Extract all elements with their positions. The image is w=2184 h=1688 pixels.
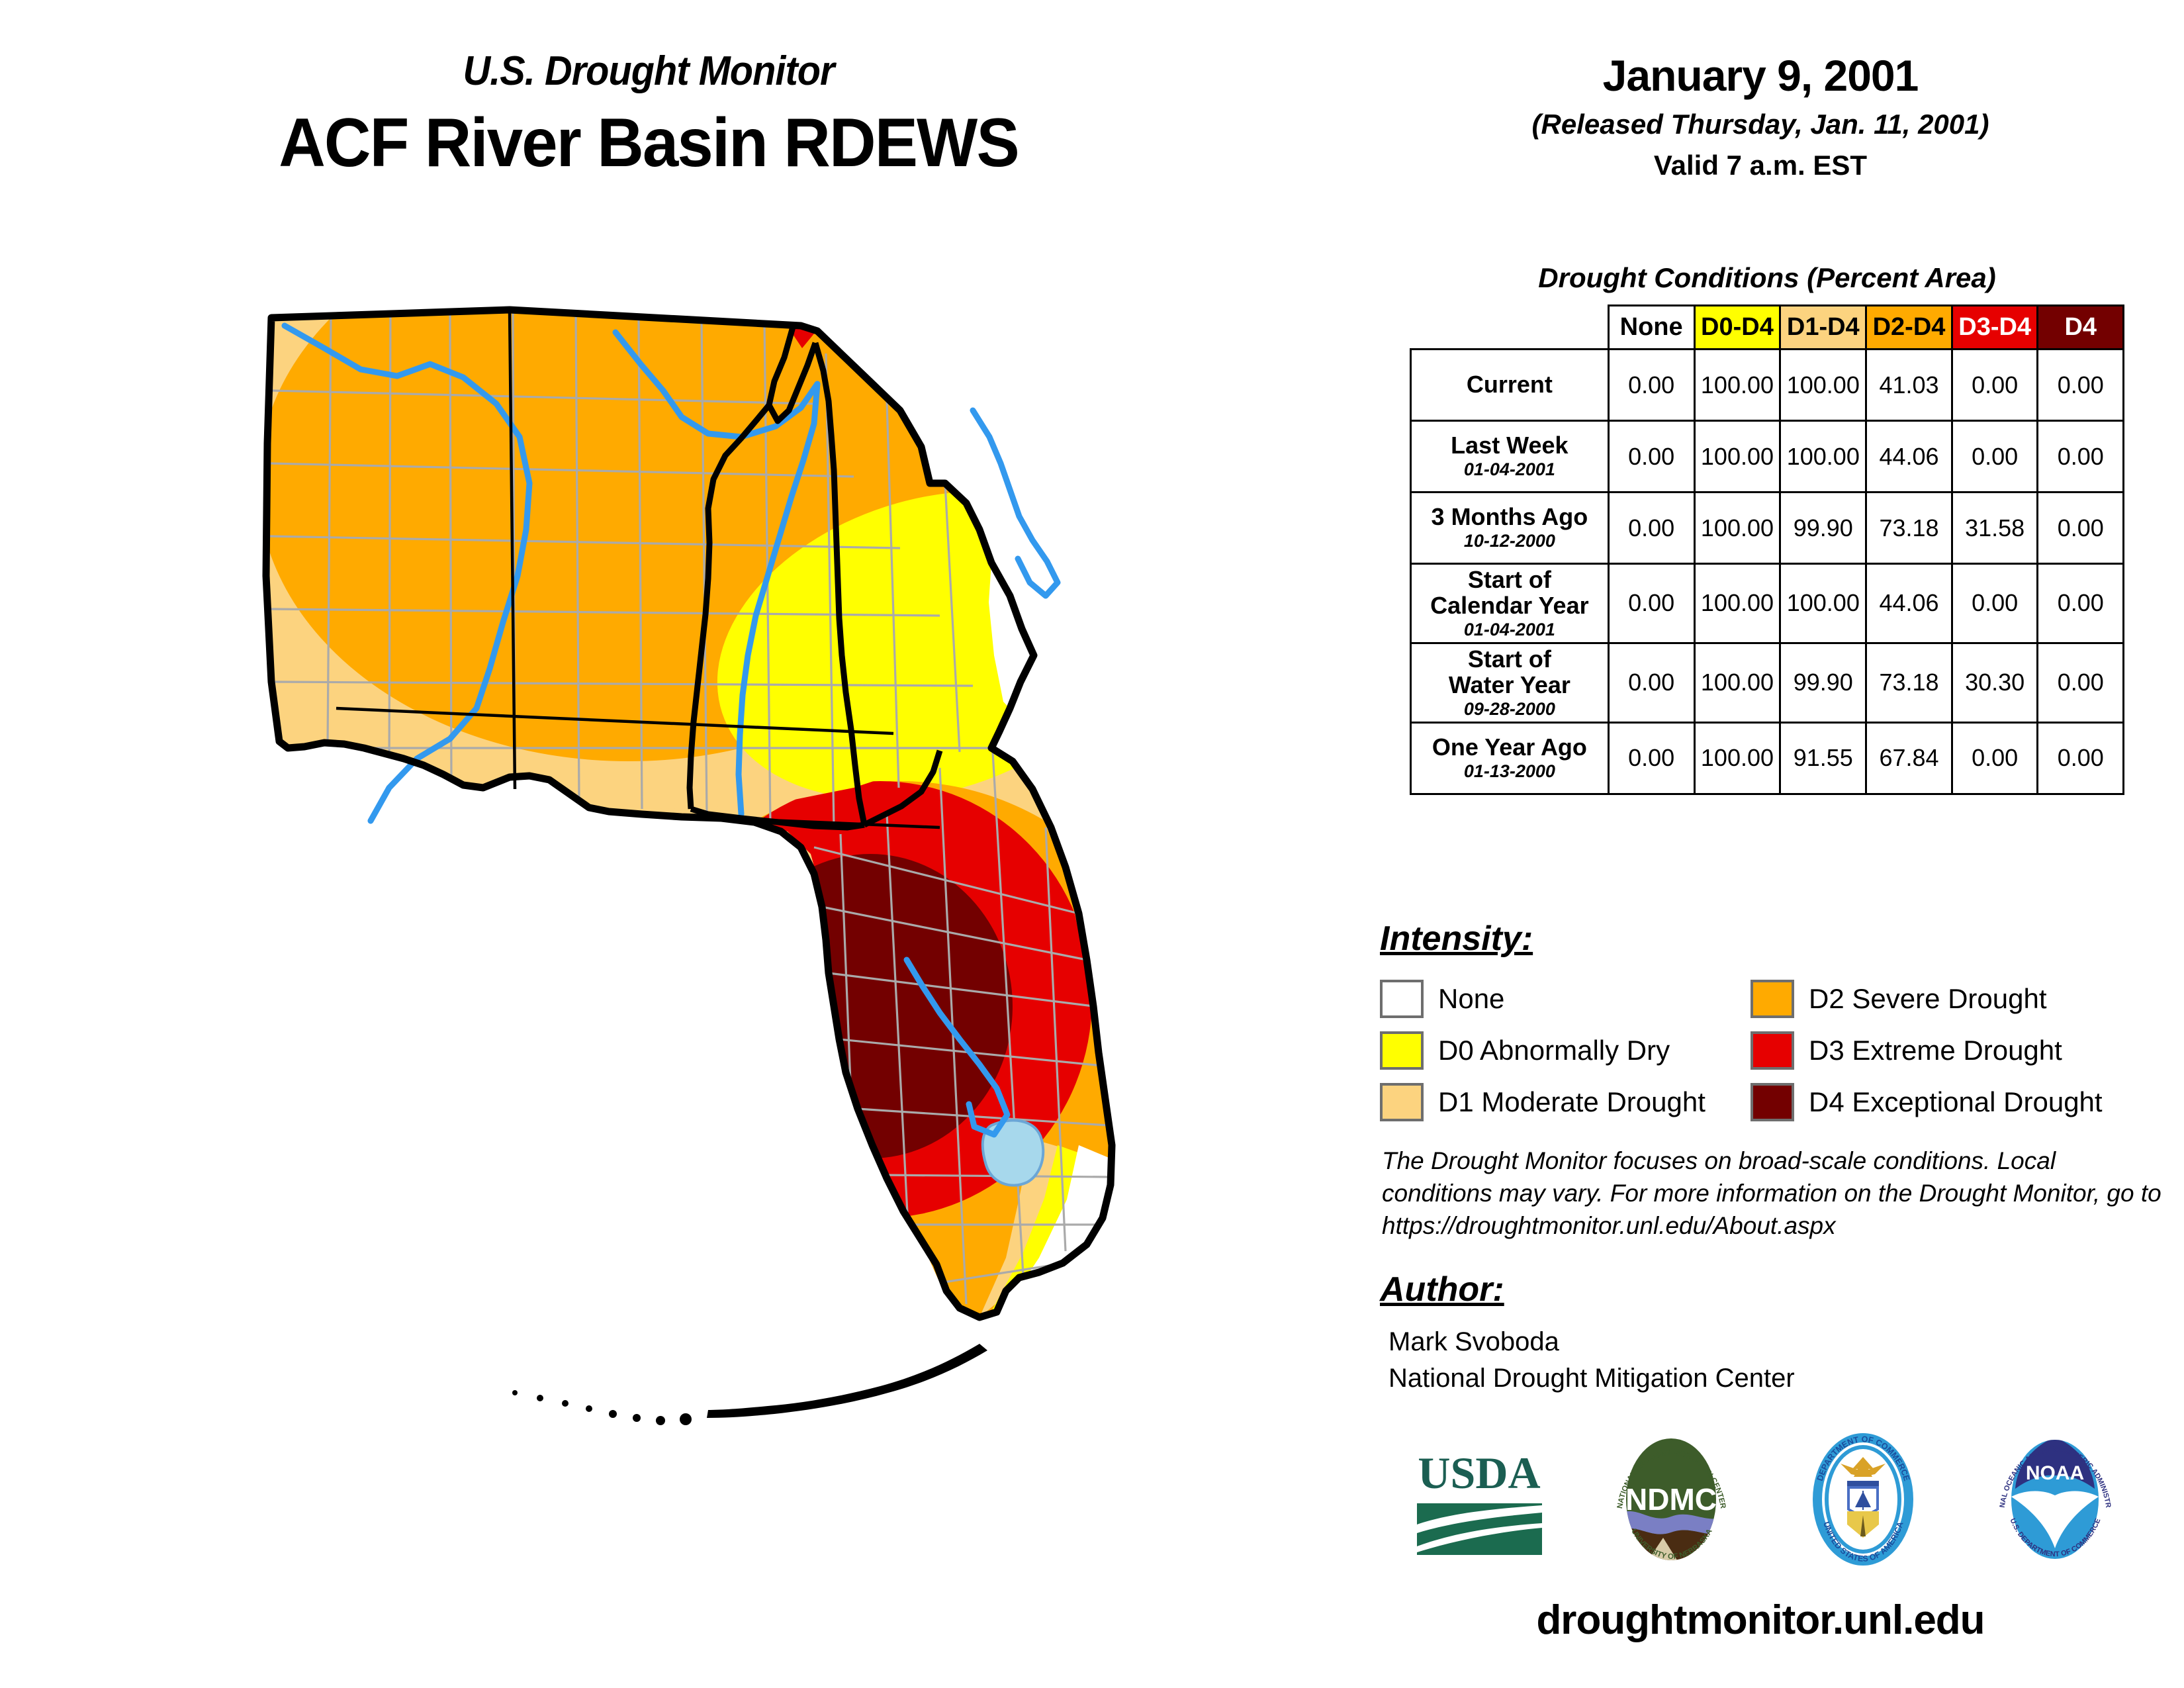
table-cell: 0.00	[1952, 722, 2038, 794]
table-cell: 99.90	[1780, 643, 1866, 722]
table-cell: 0.00	[1952, 421, 2038, 492]
table-row-date: 01-04-2001	[1416, 620, 1604, 639]
legend-label: D0 Abnormally Dry	[1438, 1035, 1670, 1066]
table-cell: 0.00	[1952, 564, 2038, 643]
intensity-legend: NoneD2 Severe DroughtD0 Abnormally DryD3…	[1380, 973, 2161, 1128]
table-row-date: 10-12-2000	[1416, 532, 1604, 551]
legend-item-d4-exceptional-drought: D4 Exceptional Drought	[1751, 1076, 2161, 1128]
table-cell: 0.00	[2038, 564, 2124, 643]
florida-keys	[512, 1344, 987, 1425]
table-cell: 100.00	[1694, 722, 1780, 794]
table-cell: 0.00	[2038, 421, 2124, 492]
usda-logo-graphic: USDA	[1405, 1425, 1554, 1574]
table-row-label: Start ofWater Year09-28-2000	[1411, 643, 1609, 722]
drought-monitor-page: U.S. Drought Monitor ACF River Basin RDE…	[0, 0, 2184, 1688]
legend-label: None	[1438, 983, 1504, 1015]
lake-okeechobee	[983, 1121, 1044, 1186]
table-row: Last Week01-04-20010.00100.00100.0044.06…	[1411, 421, 2124, 492]
table-col-header-d0-d4: D0-D4	[1694, 306, 1780, 350]
table-cell: 0.00	[1608, 643, 1694, 722]
noaa-logo-graphic: NOAA NATIONAL OCEANIC AND ATMOSPHERIC AD…	[1981, 1425, 2130, 1574]
table-col-header-d2-d4: D2-D4	[1866, 306, 1952, 350]
table-row-label: Start ofCalendar Year01-04-2001	[1411, 564, 1609, 643]
table-cell: 0.00	[2038, 722, 2124, 794]
legend-item-d0-abnormally-dry: D0 Abnormally Dry	[1380, 1025, 1751, 1076]
table-cell: 0.00	[2038, 492, 2124, 564]
legend-swatch	[1751, 1083, 1794, 1121]
legend-label: D3 Extreme Drought	[1809, 1035, 2062, 1066]
table-header-corner	[1411, 306, 1609, 350]
legend-swatch	[1751, 980, 1794, 1018]
legend-swatch	[1751, 1031, 1794, 1070]
table-row: Start ofCalendar Year01-04-20010.00100.0…	[1411, 564, 2124, 643]
author-name: Mark Svoboda	[1388, 1324, 1795, 1360]
doc-logo-graphic: DEPARTMENT OF COMMERCE UNITED STATES OF …	[1789, 1425, 1938, 1574]
table-row-date: 09-28-2000	[1416, 700, 1604, 719]
table-row: 3 Months Ago10-12-20000.00100.0099.9073.…	[1411, 492, 2124, 564]
table-row-date: 01-04-2001	[1416, 460, 1604, 479]
table-cell: 100.00	[1694, 350, 1780, 421]
disclaimer-text: The Drought Monitor focuses on broad-sca…	[1382, 1145, 2163, 1242]
legend-item-d1-moderate-drought: D1 Moderate Drought	[1380, 1076, 1751, 1128]
date-block: January 9, 2001 (Released Thursday, Jan.…	[1403, 50, 2118, 181]
title-block: U.S. Drought Monitor ACF River Basin RDE…	[0, 48, 1297, 183]
doc-logo: DEPARTMENT OF COMMERCE UNITED STATES OF …	[1789, 1425, 1938, 1574]
table-cell: 0.00	[1608, 492, 1694, 564]
table-row-label: Current	[1411, 350, 1609, 421]
table-col-header-d1-d4: D1-D4	[1780, 306, 1866, 350]
ndmc-logo-text: NDMC	[1625, 1482, 1717, 1517]
table-cell: 0.00	[1608, 722, 1694, 794]
legend-label: D1 Moderate Drought	[1438, 1086, 1706, 1118]
table-row: Start ofWater Year09-28-20000.00100.0099…	[1411, 643, 2124, 722]
table-cell: 73.18	[1866, 643, 1952, 722]
table-row-label: Last Week01-04-2001	[1411, 421, 1609, 492]
noaa-logo: NOAA NATIONAL OCEANIC AND ATMOSPHERIC AD…	[1981, 1425, 2130, 1574]
table-cell: 41.03	[1866, 350, 1952, 421]
legend-swatch	[1380, 1083, 1424, 1121]
author-block: Mark Svoboda National Drought Mitigation…	[1388, 1324, 1795, 1397]
table-caption: Drought Conditions (Percent Area)	[1416, 262, 2118, 294]
legend-item-d2-severe-drought: D2 Severe Drought	[1751, 973, 2161, 1025]
table-row-label: 3 Months Ago10-12-2000	[1411, 492, 1609, 564]
table-row: Current0.00100.00100.0041.030.000.00	[1411, 350, 2124, 421]
table-cell: 100.00	[1694, 564, 1780, 643]
table-cell: 0.00	[2038, 350, 2124, 421]
agency-logos: USDA NDMC	[1383, 1423, 2151, 1575]
drought-conditions-table: NoneD0-D4D1-D4D2-D4D3-D4D4 Current0.0010…	[1410, 305, 2124, 795]
table-col-header-d3-d4: D3-D4	[1952, 306, 2038, 350]
table-cell: 0.00	[2038, 643, 2124, 722]
ndmc-logo: NDMC NATIONAL DROUGHT MITIGATION CENTER …	[1597, 1425, 1746, 1574]
legend-item-none: None	[1380, 973, 1751, 1025]
table-col-header-none: None	[1608, 306, 1694, 350]
table-cell: 100.00	[1780, 564, 1866, 643]
intensity-heading: Intensity:	[1380, 919, 1533, 959]
footer-url: droughtmonitor.unl.edu	[1363, 1597, 2158, 1644]
legend-label: D2 Severe Drought	[1809, 983, 2047, 1015]
legend-label: D4 Exceptional Drought	[1809, 1086, 2103, 1118]
table-cell: 73.18	[1866, 492, 1952, 564]
legend-item-d3-extreme-drought: D3 Extreme Drought	[1751, 1025, 2161, 1076]
page-title: ACF River Basin RDEWS	[39, 104, 1258, 183]
table-cell: 0.00	[1608, 421, 1694, 492]
ndmc-logo-graphic: NDMC NATIONAL DROUGHT MITIGATION CENTER …	[1597, 1425, 1746, 1574]
table-cell: 100.00	[1780, 421, 1866, 492]
program-title: U.S. Drought Monitor	[46, 48, 1252, 95]
table-col-header-d4: D4	[2038, 306, 2124, 350]
table-cell: 100.00	[1694, 492, 1780, 564]
map-date: January 9, 2001	[1403, 50, 2118, 101]
author-heading: Author:	[1380, 1270, 1504, 1309]
usda-logo-text: USDA	[1418, 1448, 1540, 1498]
table-cell: 67.84	[1866, 722, 1952, 794]
table-cell: 100.00	[1694, 421, 1780, 492]
noaa-logo-text: NOAA	[2025, 1462, 2083, 1484]
legend-swatch	[1380, 980, 1424, 1018]
table-cell: 30.30	[1952, 643, 2038, 722]
table-cell: 0.00	[1608, 564, 1694, 643]
table-cell: 99.90	[1780, 492, 1866, 564]
table-cell: 91.55	[1780, 722, 1866, 794]
author-organization: National Drought Mitigation Center	[1388, 1360, 1795, 1397]
table-row-date: 01-13-2000	[1416, 762, 1604, 781]
table-cell: 100.00	[1780, 350, 1866, 421]
legend-swatch	[1380, 1031, 1424, 1070]
table-cell: 44.06	[1866, 421, 1952, 492]
usda-logo: USDA	[1405, 1425, 1554, 1574]
table-cell: 31.58	[1952, 492, 2038, 564]
table-cell: 44.06	[1866, 564, 1952, 643]
table-row: One Year Ago01-13-20000.00100.0091.5567.…	[1411, 722, 2124, 794]
drought-map	[218, 285, 1238, 1595]
table-cell: 0.00	[1608, 350, 1694, 421]
table-cell: 0.00	[1952, 350, 2038, 421]
table-header-row: NoneD0-D4D1-D4D2-D4D3-D4D4	[1411, 306, 2124, 350]
drought-map-svg	[218, 285, 1238, 1595]
valid-time: Valid 7 a.m. EST	[1403, 150, 2118, 181]
table-cell: 100.00	[1694, 643, 1780, 722]
release-date: (Released Thursday, Jan. 11, 2001)	[1403, 109, 2118, 140]
table-row-label: One Year Ago01-13-2000	[1411, 722, 1609, 794]
